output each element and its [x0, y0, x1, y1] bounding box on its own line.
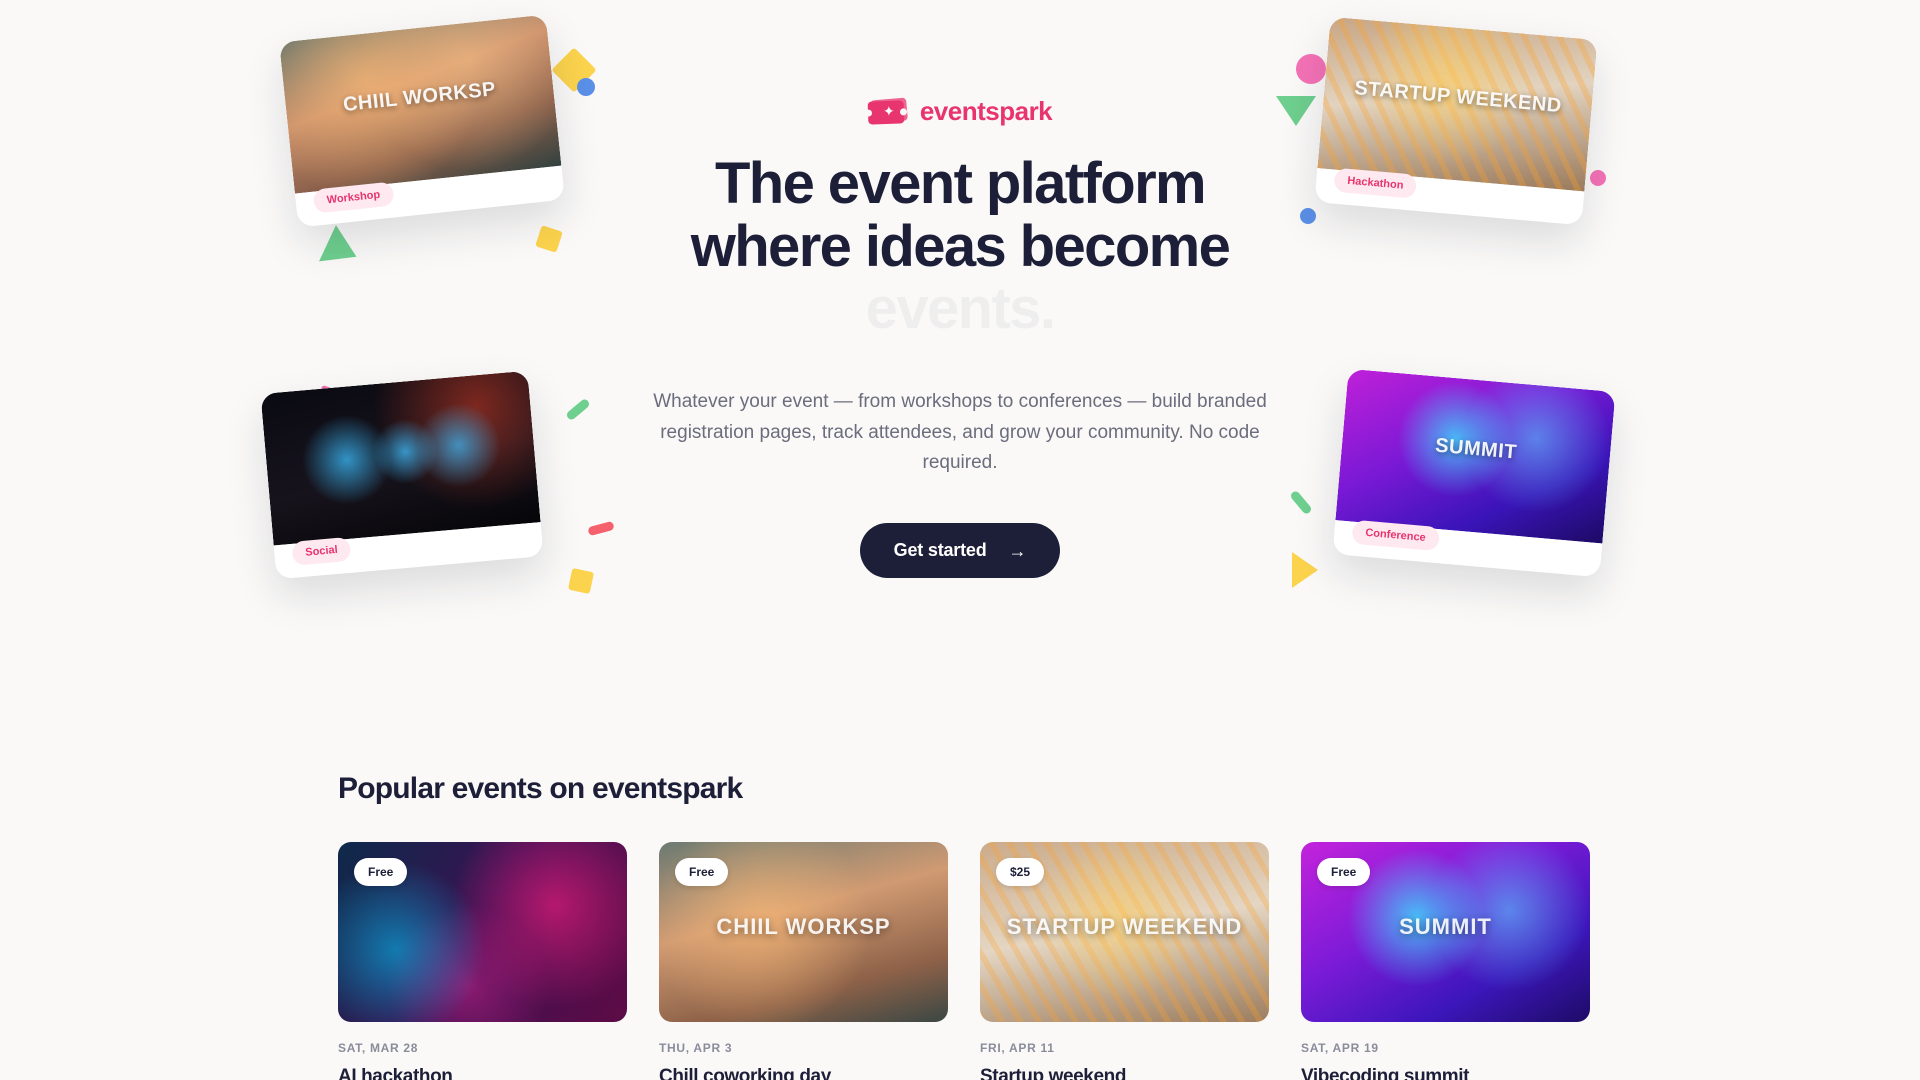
- event-date: SAT, MAR 28: [338, 1041, 627, 1055]
- hero-subheading: Whatever your event — from workshops to …: [650, 387, 1270, 479]
- event-name: AI hackathon: [338, 1066, 627, 1080]
- decor-square-yellow-leftlow: [535, 225, 563, 253]
- event-card[interactable]: STARTUP WEEKEND $25 FRI, APR 11 Startup …: [980, 842, 1269, 1080]
- decor-bar-green-lowright: [1289, 490, 1313, 516]
- price-badge: Free: [354, 858, 407, 886]
- floating-card-photo: [260, 371, 540, 546]
- floating-card-photo: CHIIL WORKSP: [279, 15, 561, 194]
- thumbnail-caption: SUMMIT: [1301, 914, 1590, 940]
- photo-caption: STARTUP WEEKEND: [1324, 74, 1593, 120]
- event-name: Startup weekend: [980, 1066, 1269, 1080]
- event-card[interactable]: SUMMIT Free SAT, APR 19 Vibecoding summi…: [1301, 842, 1590, 1080]
- hero-section: CHIIL WORKSP Workshop STARTUP WEEKEND Ha…: [0, 0, 1920, 700]
- get-started-button[interactable]: Get started →: [860, 523, 1061, 578]
- event-thumbnail: SUMMIT Free: [1301, 842, 1590, 1022]
- decor-circle-pink-rightmid: [1590, 170, 1606, 186]
- floating-card-conference[interactable]: SUMMIT Conference: [1332, 369, 1615, 578]
- photo-caption: SUMMIT: [1342, 426, 1611, 472]
- price-badge: $25: [996, 858, 1044, 886]
- page-title: The event platform where ideas become ev…: [650, 153, 1270, 341]
- headline-line-3: events.: [650, 278, 1270, 341]
- arrow-right-icon: →: [1009, 542, 1027, 560]
- brand-logo[interactable]: ✦ eventspark: [650, 96, 1270, 127]
- section-title: Popular events on eventspark: [338, 772, 1588, 806]
- ticket-icon: ✦: [868, 99, 908, 125]
- decor-bar-red-lowleft: [587, 521, 614, 536]
- event-name: Chill coworking day: [659, 1066, 948, 1080]
- decor-circle-blue-right: [1300, 208, 1316, 224]
- headline-line-2: where ideas become: [650, 216, 1270, 279]
- event-thumbnail: Free: [338, 842, 627, 1022]
- photo-caption: [265, 428, 532, 451]
- decor-triangle-yellow-lowright: [1292, 552, 1318, 588]
- event-card[interactable]: CHIIL WORKSP Free THU, APR 3 Chill cowor…: [659, 842, 948, 1080]
- headline-line-1: The event platform: [650, 153, 1270, 216]
- price-badge: Free: [1317, 858, 1370, 886]
- event-name: Vibecoding summit: [1301, 1066, 1590, 1080]
- floating-card-hackathon[interactable]: STARTUP WEEKEND Hackathon: [1314, 17, 1597, 226]
- sparkle-icon: ✦: [883, 105, 895, 117]
- decor-triangle-green-right: [1276, 96, 1316, 126]
- event-thumbnail: STARTUP WEEKEND $25: [980, 842, 1269, 1022]
- price-badge: Free: [675, 858, 728, 886]
- hero-content: ✦ eventspark The event platform where id…: [650, 96, 1270, 578]
- decor-circle-blue-topleft: [577, 78, 595, 96]
- floating-card-workshop[interactable]: CHIIL WORKSP Workshop: [279, 15, 565, 228]
- floating-card-photo: SUMMIT: [1335, 369, 1615, 544]
- decor-triangle-green-left: [319, 225, 365, 275]
- event-date: FRI, APR 11: [980, 1041, 1269, 1055]
- decor-bar-green-lowleft: [565, 398, 591, 422]
- category-badge: Social: [291, 537, 351, 566]
- decor-square-yellow-lowleft: [568, 568, 594, 594]
- thumbnail-caption: STARTUP WEEKEND: [980, 914, 1269, 940]
- event-card[interactable]: Free SAT, MAR 28 AI hackathon: [338, 842, 627, 1080]
- event-date: THU, APR 3: [659, 1041, 948, 1055]
- event-date: SAT, APR 19: [1301, 1041, 1590, 1055]
- get-started-label: Get started: [894, 540, 987, 561]
- decor-circle-pink-right: [1296, 54, 1326, 84]
- thumbnail-caption: CHIIL WORKSP: [659, 914, 948, 940]
- event-thumbnail: CHIIL WORKSP Free: [659, 842, 948, 1022]
- floating-card-photo: STARTUP WEEKEND: [1317, 17, 1597, 192]
- events-grid: Free SAT, MAR 28 AI hackathon CHIIL WORK…: [338, 842, 1588, 1080]
- brand-name: eventspark: [920, 96, 1052, 127]
- cta-container: Get started →: [650, 523, 1270, 578]
- floating-card-social[interactable]: Social: [260, 371, 543, 580]
- photo-caption: CHIIL WORKSP: [285, 72, 554, 123]
- popular-events-section: Popular events on eventspark Free SAT, M…: [338, 772, 1588, 1080]
